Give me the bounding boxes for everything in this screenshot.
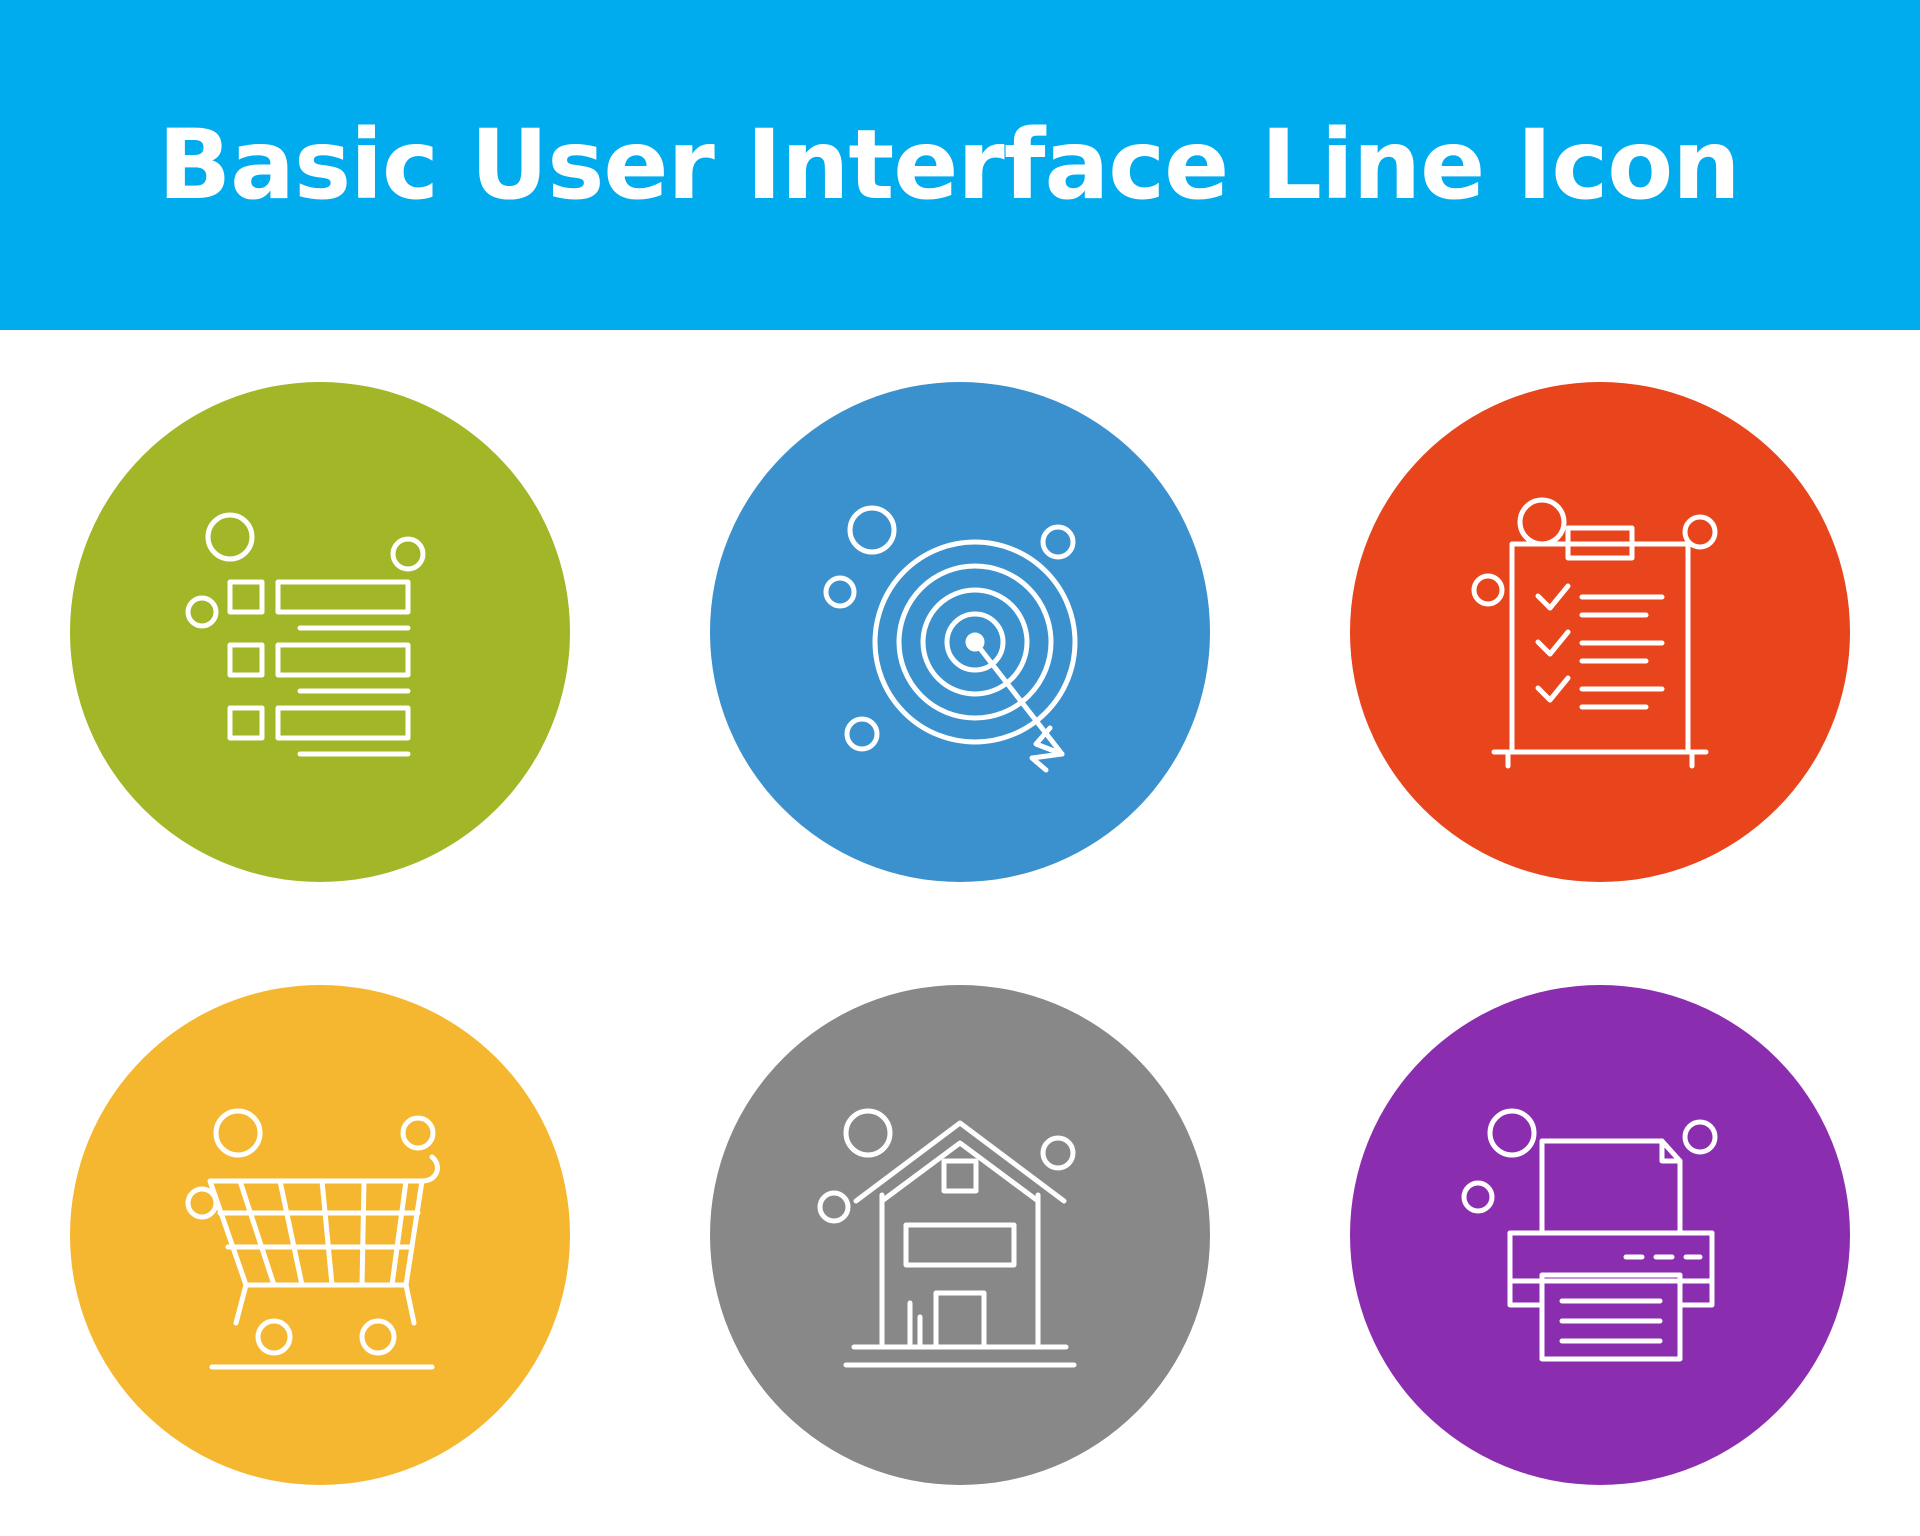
icon-cell-target xyxy=(640,330,1280,933)
icon-circle-list[interactable] xyxy=(70,382,570,882)
icon-cell-house xyxy=(640,933,1280,1536)
icon-circle-target[interactable] xyxy=(710,382,1210,882)
target-arrow-icon xyxy=(810,482,1110,782)
icon-cell-printer xyxy=(1280,933,1920,1536)
list-icon xyxy=(170,482,470,782)
shopping-cart-icon xyxy=(170,1085,470,1385)
icon-circle-cart[interactable] xyxy=(70,985,570,1485)
header-band: Basic User Interface Line Icon xyxy=(0,0,1920,330)
icon-cell-cart xyxy=(0,933,640,1536)
printer-icon xyxy=(1450,1085,1750,1385)
page-title: Basic User Interface Line Icon xyxy=(0,117,1740,213)
icon-cell-list xyxy=(0,330,640,933)
icon-circle-printer[interactable] xyxy=(1350,985,1850,1485)
house-icon xyxy=(810,1085,1110,1385)
icon-cell-clipboard xyxy=(1280,330,1920,933)
icon-circle-clipboard[interactable] xyxy=(1350,382,1850,882)
icon-set-page: Basic User Interface Line Icon xyxy=(0,0,1920,1536)
icon-grid xyxy=(0,330,1920,1536)
clipboard-checklist-icon xyxy=(1450,482,1750,782)
icon-circle-house[interactable] xyxy=(710,985,1210,1485)
